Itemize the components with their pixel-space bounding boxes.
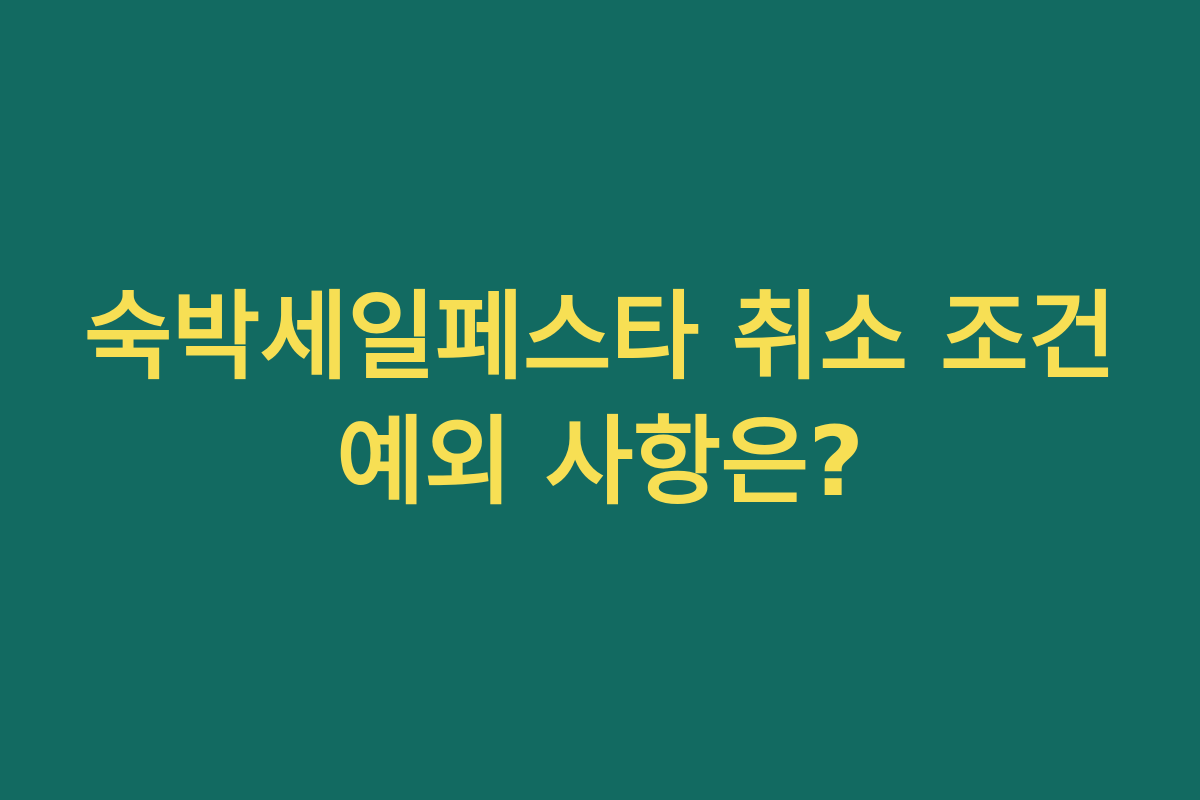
page-title: 숙박세일페스타 취소 조건 예외 사항은?	[70, 275, 1130, 525]
title-card: 숙박세일페스타 취소 조건 예외 사항은?	[0, 0, 1200, 800]
